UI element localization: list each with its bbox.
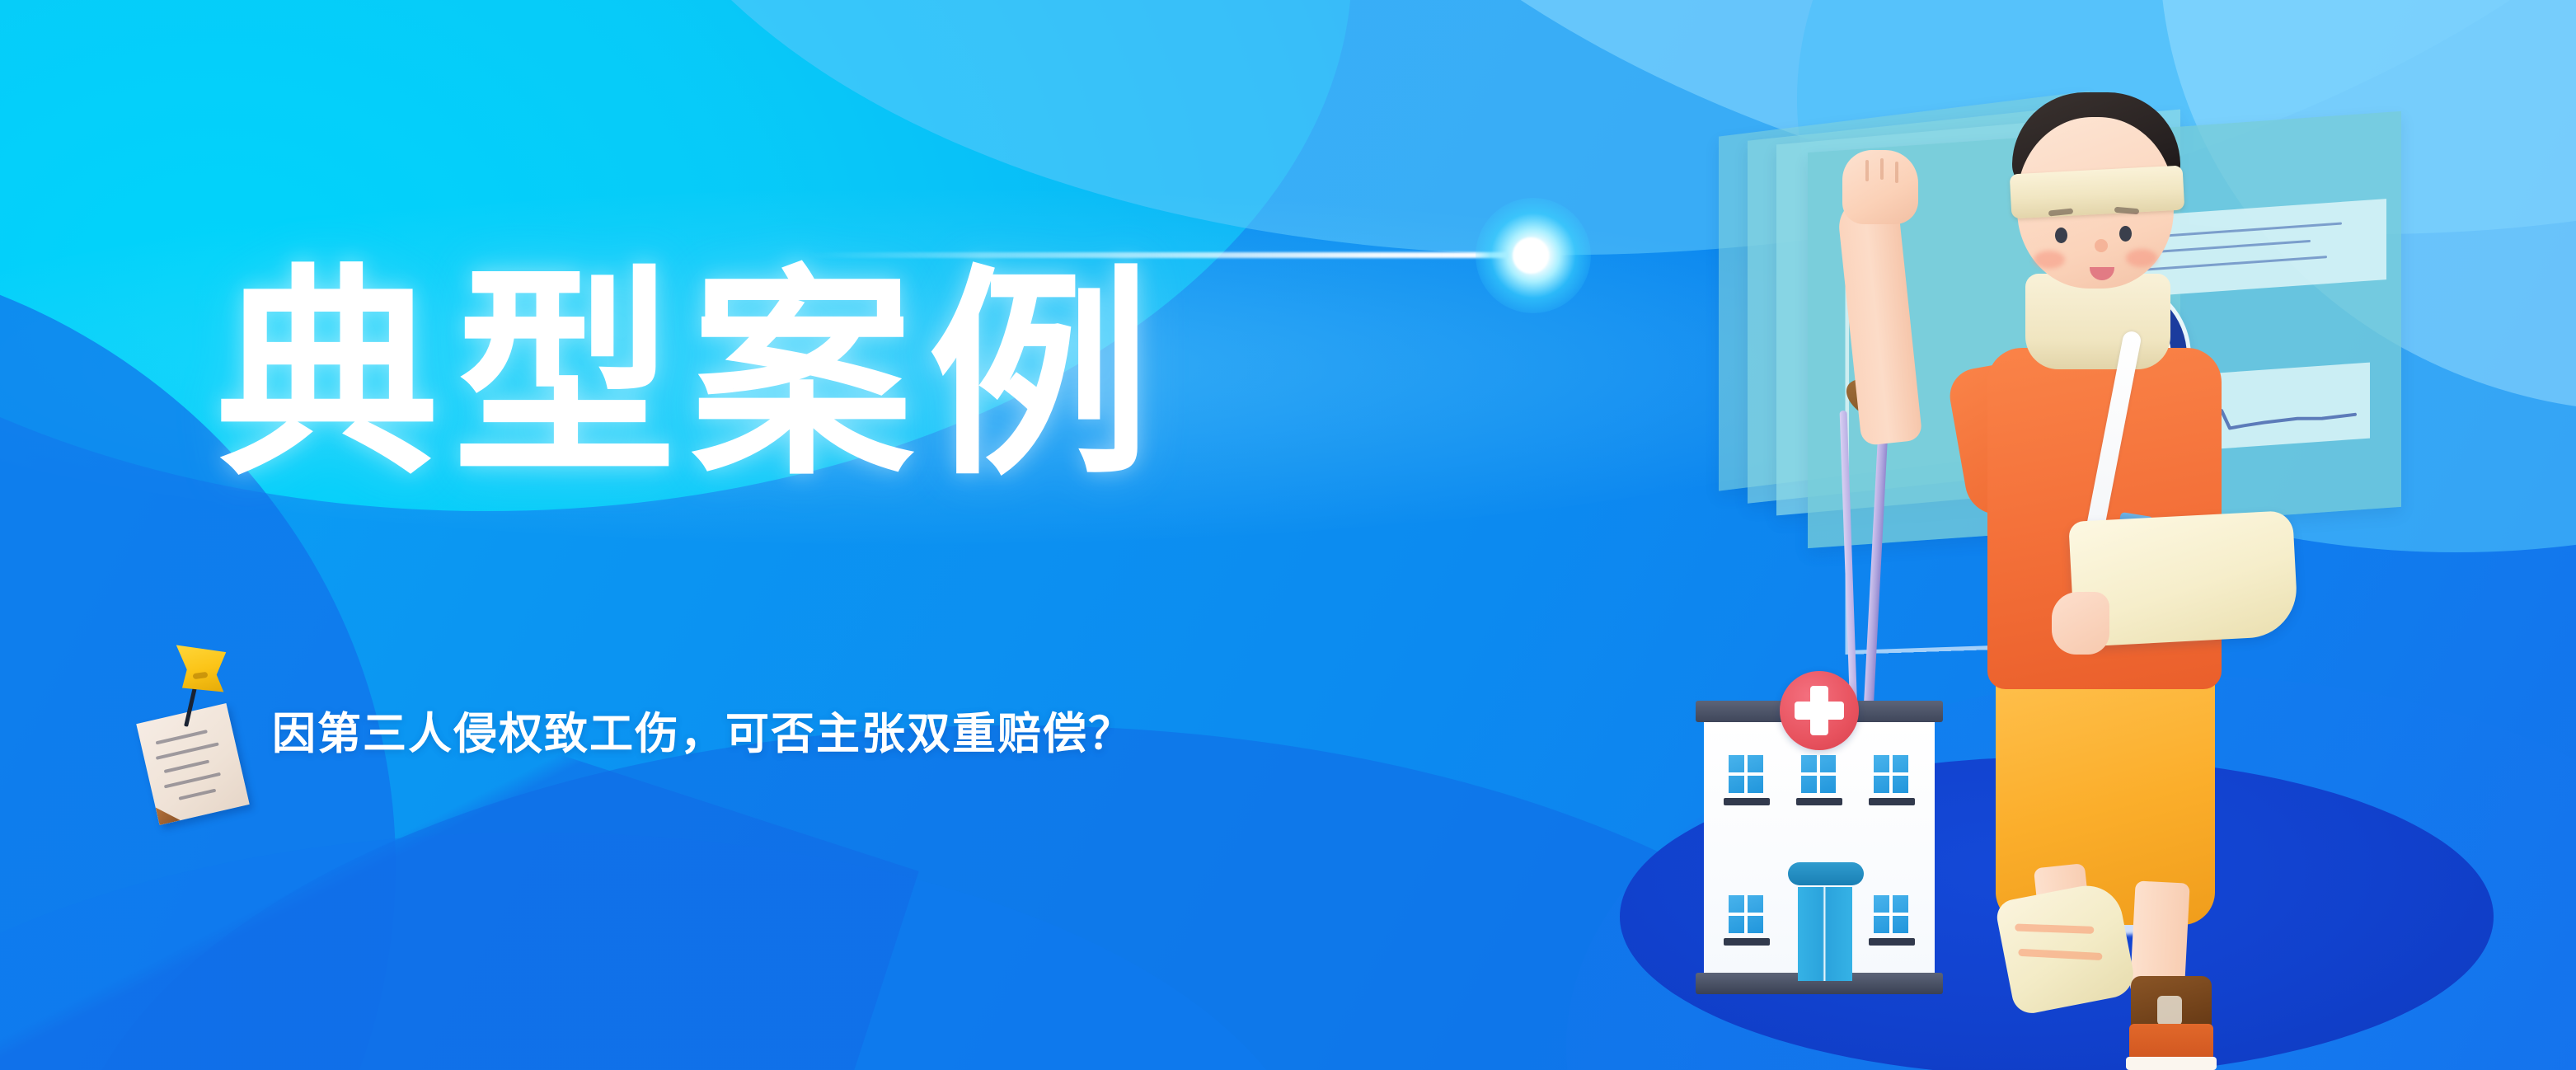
worker-cheek-blush [2126, 249, 2157, 267]
bandage-wrap-line [2018, 949, 2102, 960]
fist-knuckle [1865, 160, 1869, 181]
illustration-group [1570, 23, 2576, 1070]
head-bandage-icon [2010, 166, 2185, 219]
page-title: 典型案例 [216, 265, 1166, 488]
shoe-lace [2157, 996, 2182, 1025]
note-text-line [179, 789, 217, 800]
hospital-window-sill [1724, 938, 1770, 946]
note-text-line [156, 742, 219, 759]
note-corner-fold [156, 803, 181, 825]
fist-knuckle [1895, 162, 1898, 183]
hospital-window [1801, 755, 1836, 793]
worker-nose [2095, 239, 2108, 252]
hospital-window-sill [1724, 798, 1770, 805]
pushpin-head-icon [171, 643, 231, 694]
note-text-line [164, 760, 209, 773]
note-paper-icon [136, 703, 249, 825]
note-text-line [156, 730, 208, 744]
worker-cheek-blush [2034, 251, 2065, 269]
wave-shape-dark-bottom-b [0, 833, 1319, 1070]
injured-worker-figure [1842, 58, 2304, 1030]
worker-eye [2055, 228, 2067, 243]
list-item: raised fist [33, 13, 34, 14]
shoe-sole [2126, 1057, 2217, 1070]
page-subtitle: 因第三人侵权致工伤，可否主张双重赔偿？ [272, 699, 1133, 762]
fist-knuckle [1880, 158, 1884, 180]
foot-bandage-icon [1994, 880, 2137, 1016]
hospital-window-sill [1796, 798, 1842, 805]
hospital-window [1729, 895, 1763, 933]
raised-fist-icon [1842, 150, 1918, 224]
worker-eye [2119, 226, 2132, 242]
case-study-banner: 典型案例 因第三人侵权致工伤，可否主张双重赔偿？ [0, 0, 2576, 1070]
bandage-wrap-line [2015, 924, 2094, 934]
illustration-element-list: raised fist head bandage neck bandage ar… [0, 13, 34, 14]
raised-arm [1837, 194, 1923, 446]
light-streak-core [1513, 237, 1549, 274]
hospital-window [1729, 755, 1763, 793]
note-text-line [164, 772, 221, 789]
worker-supporting-hand [2052, 592, 2109, 655]
